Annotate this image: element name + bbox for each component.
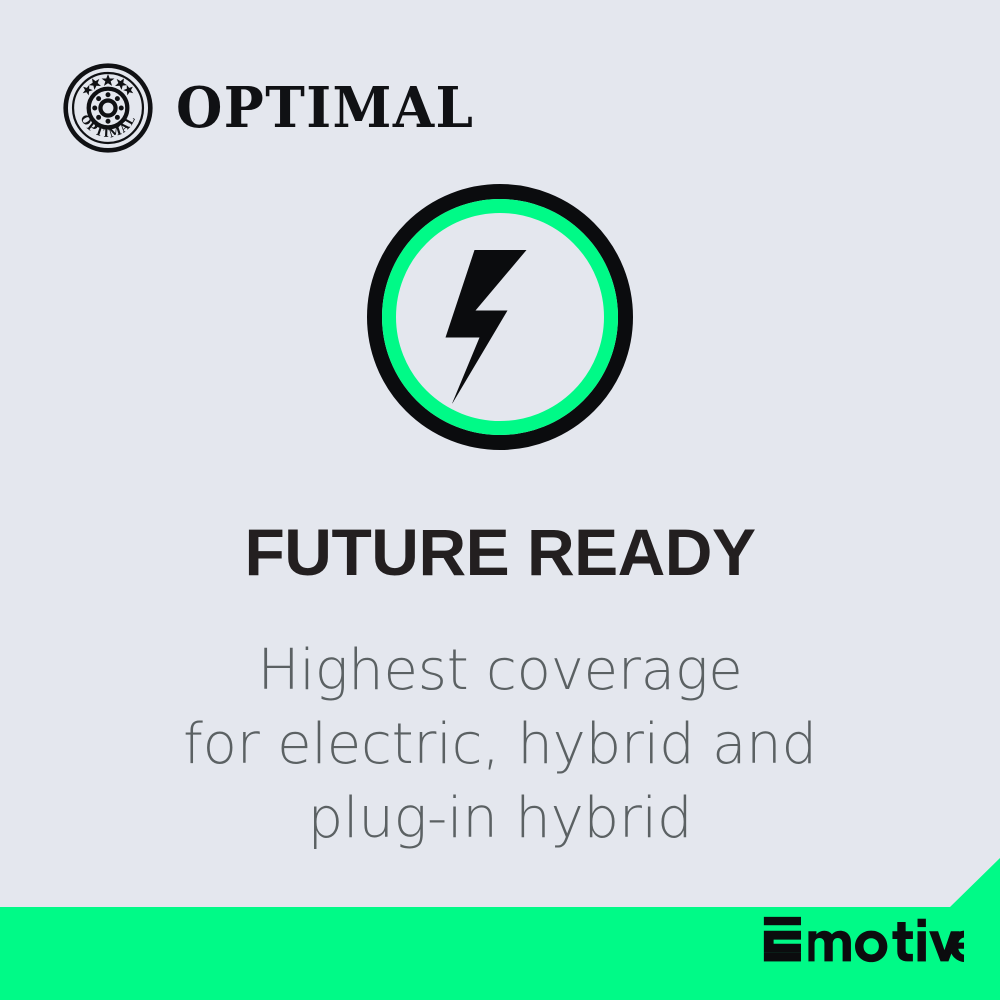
subtitle-line-1: Highest coverage: [0, 634, 1000, 708]
hero-icon: [367, 184, 633, 450]
brand-wordmark: OPTIMAL: [176, 80, 474, 136]
promo-card: OPTIMAL OPTIMAL: [0, 0, 1000, 1000]
optimal-emblem-icon: OPTIMAL: [62, 62, 154, 154]
subtitle-line-2: for electric, hybrid and: [0, 708, 1000, 782]
lightning-bolt-icon: [446, 250, 527, 404]
subtitle: Highest coverage for electric, hybrid an…: [0, 634, 1000, 856]
brand-header: OPTIMAL OPTIMAL: [62, 62, 490, 154]
page-title: FUTURE READY: [0, 519, 1000, 585]
emotive-wordmark-logo: [762, 915, 964, 967]
subtitle-line-3: plug-in hybrid: [0, 782, 1000, 856]
footer-band: [0, 850, 1000, 1000]
